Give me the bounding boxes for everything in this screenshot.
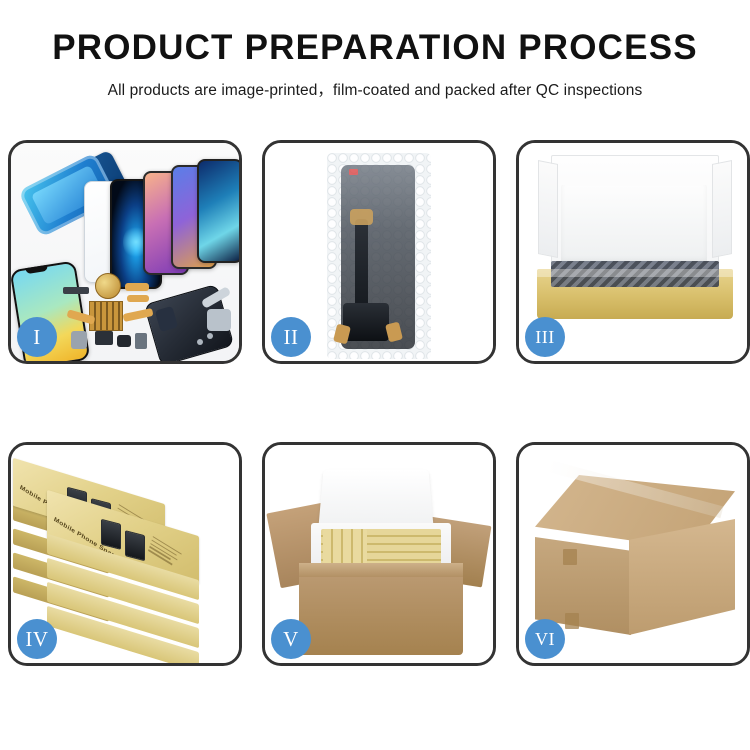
page-subtitle: All products are image-printed，film-coat… [0, 78, 750, 100]
step-badge-1: I [17, 317, 57, 357]
step-badge-5: V [271, 619, 311, 659]
screw-a-icon [197, 339, 203, 345]
speaker-coil-icon [95, 273, 121, 299]
carton-tab-lower-icon [565, 613, 579, 629]
header: PRODUCT PREPARATION PROCESS All products… [0, 0, 750, 100]
step-badge-4: IV [17, 619, 57, 659]
product-preparation-infographic: PRODUCT PREPARATION PROCESS All products… [0, 0, 750, 750]
vibration-motor-icon [71, 331, 87, 349]
step-badge-3: III [525, 317, 565, 357]
flex-cable-c-icon [122, 308, 153, 322]
step-panel-2: II [262, 140, 496, 364]
step-badge-2: II [271, 317, 311, 357]
screen-connector-icon [343, 303, 389, 341]
carton-tab-upper-icon [563, 549, 577, 565]
foam-lid-icon [318, 470, 433, 530]
foam-sheet-icon [561, 185, 707, 263]
button-component-icon [117, 335, 131, 347]
box-screen-thumb-icon [101, 519, 121, 550]
box-screen-thumb-icon [125, 530, 145, 561]
step-panel-1: I [8, 140, 242, 364]
step-panel-4: Mobile Phone Spare Parts Mobile Phone Sp… [8, 442, 242, 666]
screw-b-icon [207, 333, 213, 339]
tweezers-icon [201, 286, 231, 309]
step-panel-6: VI [516, 442, 750, 666]
gold-tray-box-icon [537, 269, 733, 319]
step-panel-3: III [516, 140, 750, 364]
page-title: PRODUCT PREPARATION PROCESS [0, 30, 750, 65]
camera-module-icon [95, 331, 113, 345]
step-panel-5: V [262, 442, 496, 666]
connector-icon [135, 333, 147, 349]
steps-grid: I II III [8, 140, 742, 666]
flex-cable-b-icon [127, 295, 149, 302]
carton-body-icon [299, 573, 463, 655]
antenna-strip-icon [63, 287, 89, 294]
tool-kit-icon [207, 309, 231, 331]
step-badge-6: VI [525, 619, 565, 659]
flex-cable-a-icon [125, 283, 149, 291]
bubble-wrap-bag-icon [327, 153, 431, 359]
